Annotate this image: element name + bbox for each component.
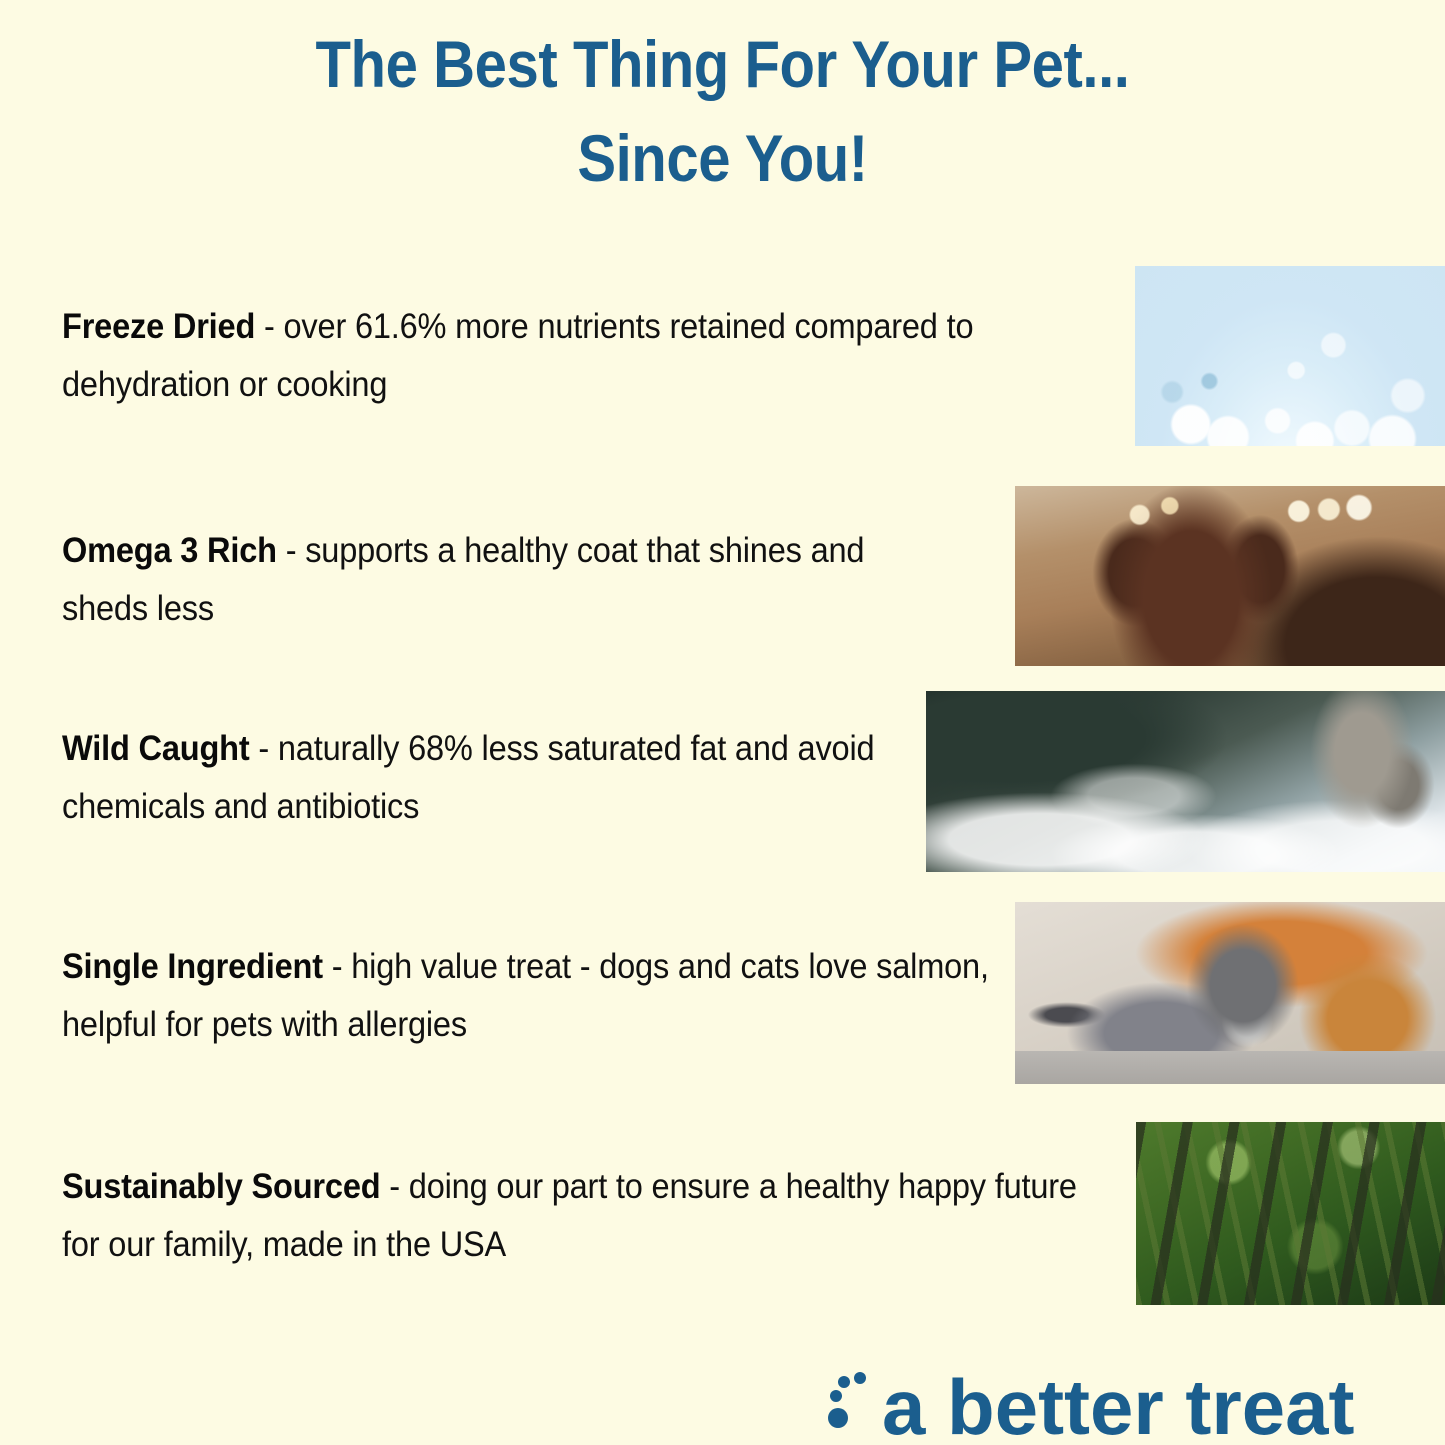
ice-crystals-photo	[1135, 266, 1445, 446]
benefit-item-freeze-dried: Freeze Dried - over 61.6% more nutrients…	[62, 298, 1048, 415]
brand-wordmark: a better treat	[882, 1368, 1355, 1445]
brand-logo: a better treat	[828, 1362, 1428, 1445]
chocolate-labrador-photo-inner	[1015, 486, 1445, 666]
benefit-item-omega-3-rich: Omega 3 Rich - supports a healthy coat t…	[62, 522, 955, 639]
benefit-item-sustainably-sourced: Sustainably Sourced - doing our part to …	[62, 1158, 1113, 1275]
paw-toe-3	[854, 1372, 866, 1384]
ice-crystals-photo-inner	[1135, 266, 1445, 446]
page-title-line-2: Since You!	[87, 112, 1359, 206]
leaping-salmon-photo	[926, 691, 1445, 872]
benefit-term: Sustainably Sourced	[62, 1167, 380, 1206]
forest-canopy-photo	[1136, 1122, 1445, 1305]
forest-canopy-photo-inner	[1136, 1122, 1445, 1305]
leaping-salmon-photo-inner	[926, 691, 1445, 872]
infographic-canvas: The Best Thing For Your Pet... Since You…	[0, 0, 1445, 1445]
benefit-item-single-ingredient: Single Ingredient - high value treat - d…	[62, 938, 992, 1055]
benefit-term: Single Ingredient	[62, 947, 323, 986]
benefit-term: Omega 3 Rich	[62, 531, 277, 570]
cat-and-dog-photo-inner	[1015, 902, 1445, 1084]
paw-pad	[828, 1408, 848, 1428]
cat-and-dog-photo	[1015, 902, 1445, 1084]
paw-toe-1	[830, 1390, 842, 1402]
chocolate-labrador-photo	[1015, 486, 1445, 666]
page-title: The Best Thing For Your Pet... Since You…	[87, 18, 1359, 205]
page-title-line-1: The Best Thing For Your Pet...	[87, 18, 1359, 112]
paw-print-icon	[828, 1372, 882, 1442]
benefit-term: Freeze Dried	[62, 307, 255, 346]
benefit-item-wild-caught: Wild Caught - naturally 68% less saturat…	[62, 720, 899, 837]
benefit-term: Wild Caught	[62, 729, 250, 768]
paw-toe-2	[838, 1376, 850, 1388]
